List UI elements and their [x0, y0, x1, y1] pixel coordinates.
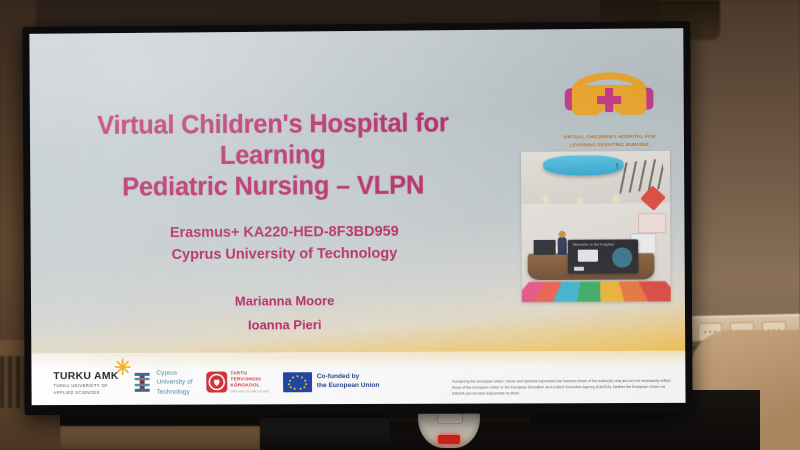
vlpn-project-logo: VIRTUAL CHILDREN'S HOSPITAL FOR LEARNING… [557, 52, 662, 149]
hospital-reception-photo: Welcome to the hospital [521, 151, 671, 302]
eu-line-2: the European Union [317, 382, 380, 391]
photo-board-text: Welcome to the hospital [573, 243, 614, 247]
author-1: Marianna Moore [135, 289, 434, 315]
cut-emblem-icon [133, 372, 152, 393]
logo-cyprus-university-of-technology: Cyprus University of Technology [133, 369, 193, 397]
cut-line-1: Cyprus [156, 369, 192, 378]
footer-logo-row: TURKU AMK TURKU UNIVERSITY OF APPLIED SC… [53, 368, 379, 397]
eu-disclaimer: Funded by the European Union. Views and … [452, 379, 675, 398]
photo-wall-frame [638, 213, 666, 233]
photo-lamp [543, 196, 548, 203]
logo-turku-amk: TURKU AMK TURKU UNIVERSITY OF APPLIED SC… [53, 370, 119, 397]
presentation-slide: Virtual Children's Hospital for Learning… [29, 28, 685, 405]
photo-monitor [534, 240, 556, 255]
photo-skylight [543, 155, 624, 176]
vr-headset-icon [557, 52, 662, 131]
photo-board-circle [612, 247, 632, 267]
photo-welcome-board: Welcome to the hospital [568, 239, 639, 274]
slide-title: Virtual Children's Hospital for Learning… [54, 108, 493, 204]
logo-tartu-tervishoiu-korgkool: TARTU TERVISHOIU KÕRGKOOL TARTU HEALTH C… [206, 371, 269, 394]
turku-sub-2: APPLIED SCIENCES [53, 390, 118, 397]
slide-authors: Marianna Moore Ioanna Pieri [135, 289, 435, 338]
av-device [260, 418, 390, 444]
star-burst-icon [115, 359, 131, 375]
eu-line-1: Co-funded by [317, 373, 380, 382]
photo-lamp [614, 195, 619, 202]
photo-receptionist [558, 237, 567, 255]
eu-flag-icon [283, 372, 312, 392]
tartu-emblem-icon [206, 372, 227, 393]
tartu-line-4: TARTU HEALTH CARE COLLEGE [230, 390, 269, 393]
photo-ceiling-slats [616, 159, 665, 194]
title-line-2: Pediatric Nursing – VLPN [54, 170, 493, 204]
photo-board-label [574, 267, 584, 271]
photo-rainbow-floor [521, 281, 671, 302]
slide-subtitle: Erasmus+ KA220-HED-8F3BD959 Cyprus Unive… [135, 221, 435, 267]
shelf-board [60, 426, 260, 450]
controller-light-bar [438, 435, 460, 444]
slide-footer: TURKU AMK TURKU UNIVERSITY OF APPLIED SC… [31, 351, 685, 406]
subtitle-organisation: Cyprus University of Technology [135, 243, 434, 267]
television: Virtual Children's Hospital for Learning… [22, 21, 692, 415]
title-line-1: Virtual Children's Hospital for Learning [54, 108, 493, 173]
cut-line-2: University of [156, 378, 192, 387]
photo-board-panel [578, 250, 598, 262]
turku-sub-1: TURKU UNIVERSITY OF [53, 383, 118, 390]
vlpn-logo-caption: VIRTUAL CHILDREN'S HOSPITAL FOR LEARNING… [557, 133, 662, 148]
vlpn-caption-line-2: LEARNING PEDIATRIC NURSING [557, 140, 662, 148]
turku-name: TURKU AMK [53, 370, 118, 382]
photo-lamp [578, 199, 583, 206]
tartu-line-3: KÕRGKOOL [230, 383, 269, 389]
author-2: Ioanna Pieri [135, 313, 435, 338]
room-scene: Virtual Children's Hospital for Learning… [0, 0, 800, 450]
cut-line-3: Technology [157, 387, 193, 396]
tv-screen: Virtual Children's Hospital for Learning… [29, 28, 685, 405]
subtitle-project-code: Erasmus+ KA220-HED-8F3BD959 [135, 221, 434, 245]
logo-co-funded-eu: Co-funded by the European Union [283, 372, 380, 392]
